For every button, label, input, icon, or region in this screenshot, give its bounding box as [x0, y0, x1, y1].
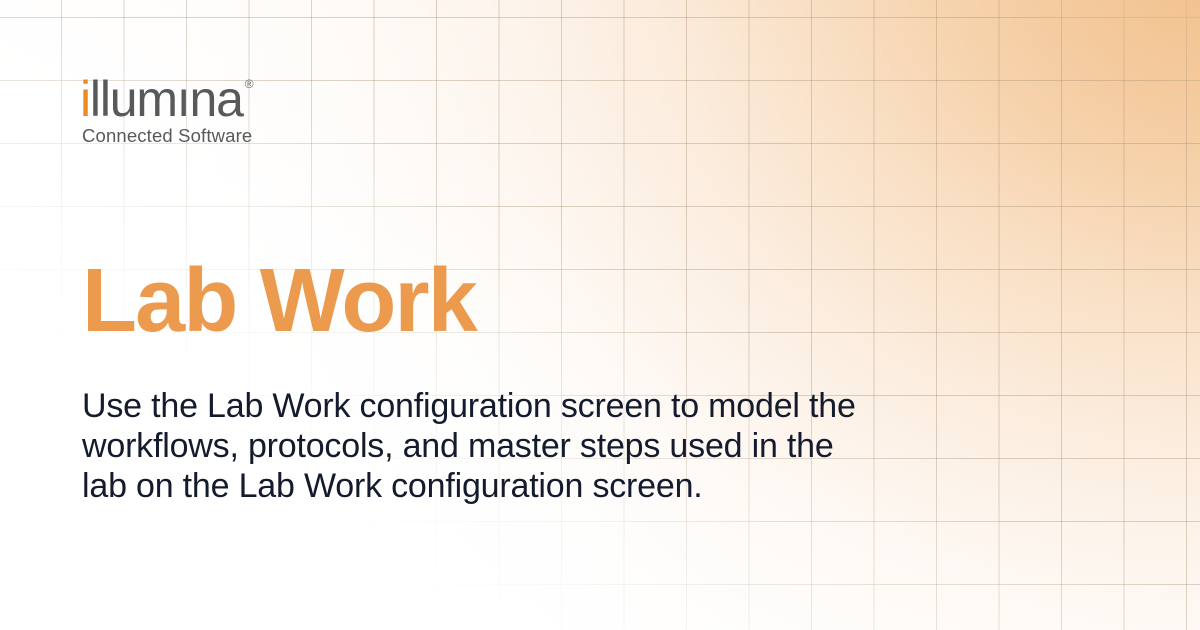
hero-banner: illumına® Connected Software Lab Work Us… [0, 0, 1200, 630]
illumina-connected-software-logo: illumına® Connected Software [80, 76, 330, 146]
registered-trademark-icon: ® [245, 78, 253, 90]
illumina-wordmark: illumına® [80, 76, 330, 122]
page-description: Use the Lab Work configuration screen to… [82, 386, 872, 506]
logo-accent-letter-i: i [80, 71, 90, 127]
page-title: Lab Work [82, 254, 476, 349]
banner-content: illumına® Connected Software Lab Work Us… [0, 0, 1200, 630]
logo-wordmark-text: llumına [90, 71, 243, 127]
logo-tagline: Connected Software [82, 126, 330, 146]
